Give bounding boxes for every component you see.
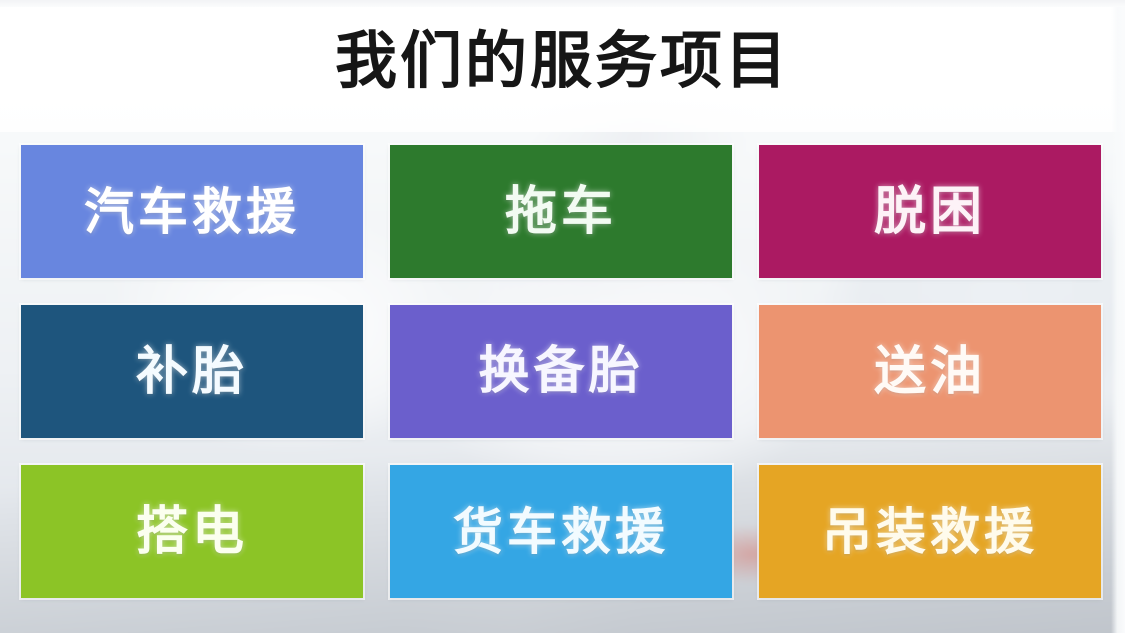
service-tile-grid: 汽车救援拖车脱困补胎换备胎送油搭电货车救援吊装救援	[21, 145, 1104, 598]
service-tile-label: 吊装救援	[822, 507, 1038, 557]
service-tile-tire-repair[interactable]: 补胎	[21, 305, 363, 438]
service-tile-label: 货车救援	[453, 507, 669, 557]
service-tile-label: 汽车救援	[84, 187, 300, 237]
service-tile-hoisting-rescue[interactable]: 吊装救援	[759, 465, 1101, 598]
service-tile-label: 补胎	[136, 346, 248, 398]
service-tile-label: 换备胎	[478, 346, 643, 397]
service-tile-label: 搭电	[136, 506, 248, 558]
service-tile-label: 送油	[874, 346, 986, 398]
service-tile-extrication[interactable]: 脱困	[759, 145, 1101, 278]
service-tile-label: 拖车	[505, 186, 617, 238]
service-tile-label: 脱困	[874, 186, 986, 238]
top-edge-strip	[0, 0, 1125, 7]
service-tile-fuel-delivery[interactable]: 送油	[759, 305, 1101, 438]
page-title: 我们的服务项目	[0, 19, 1125, 103]
service-tile-tow-truck[interactable]: 拖车	[390, 145, 732, 278]
service-tile-truck-rescue[interactable]: 货车救援	[390, 465, 732, 598]
service-tile-spare-tire-change[interactable]: 换备胎	[390, 305, 732, 438]
service-tile-car-rescue[interactable]: 汽车救援	[21, 145, 363, 278]
service-tile-jump-start[interactable]: 搭电	[21, 465, 363, 598]
service-poster: 我们的服务项目 汽车救援拖车脱困补胎换备胎送油搭电货车救援吊装救援	[0, 0, 1125, 633]
